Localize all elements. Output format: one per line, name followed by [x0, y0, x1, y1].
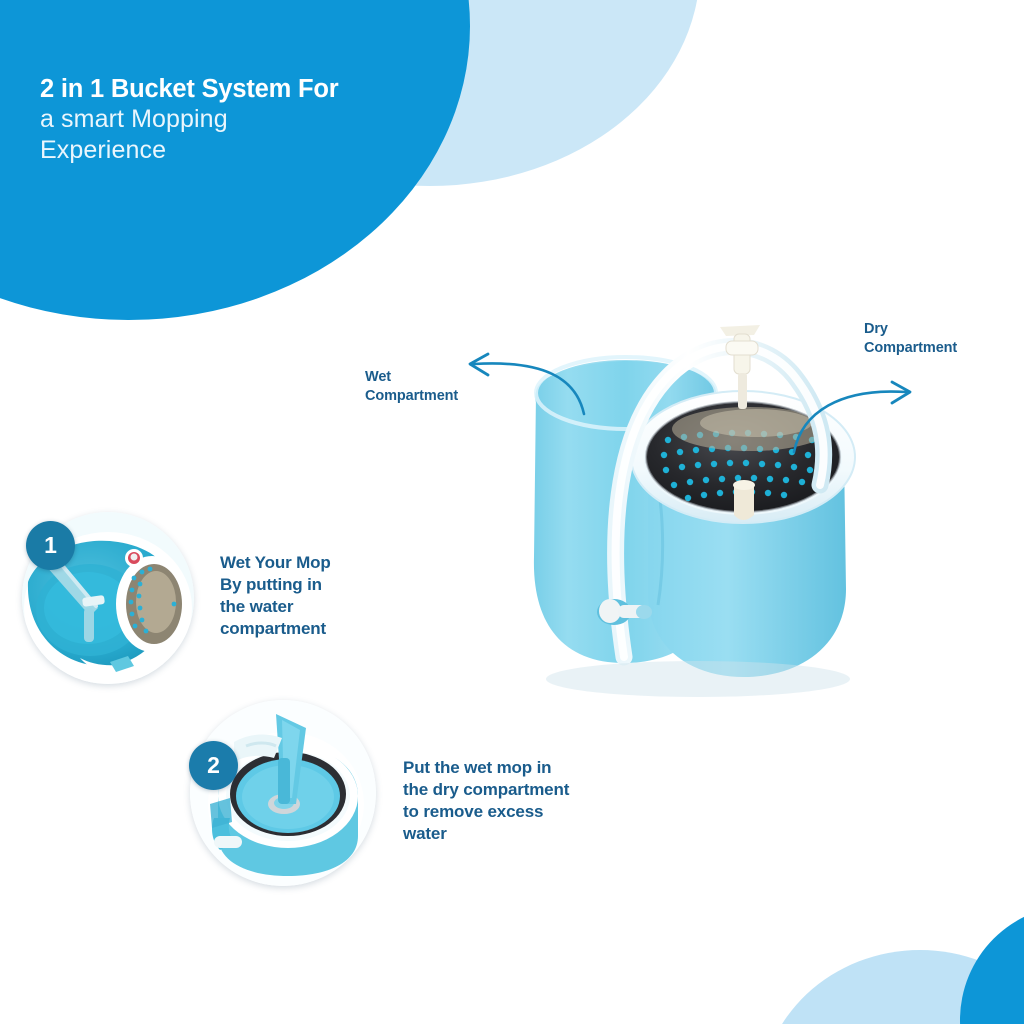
callout-dry-compartment: Dry Compartment	[864, 320, 957, 358]
step-1-text-line-4: compartment	[220, 618, 430, 640]
step-1-text-line-1: Wet Your Mop	[220, 552, 430, 574]
step-2-illustration	[190, 700, 376, 886]
step-2-text-line-2: the dry compartment	[403, 779, 643, 801]
step-1-text-line-2: By putting in	[220, 574, 430, 596]
callout-dry-line-1: Dry	[864, 320, 957, 339]
callout-wet-compartment: Wet Compartment	[365, 368, 458, 406]
step-2-text: Put the wet mop in the dry compartment t…	[403, 757, 643, 845]
page-subtitle-line-2: Experience	[40, 135, 470, 166]
curved-arrow-left-icon	[452, 352, 592, 422]
step-1-text-line-3: the water	[220, 596, 430, 618]
step-2-photo	[190, 700, 376, 886]
step-1-number-badge: 1	[26, 521, 75, 570]
curved-arrow-right-icon	[788, 378, 928, 458]
callout-dry-line-2: Compartment	[864, 339, 957, 358]
page-subtitle-line-1: a smart Mopping	[40, 104, 470, 135]
callout-wet-line-1: Wet	[365, 368, 458, 387]
callout-wet-line-2: Compartment	[365, 387, 458, 406]
header-title-block: 2 in 1 Bucket System For a smart Mopping…	[40, 74, 470, 165]
page-title: 2 in 1 Bucket System For	[40, 74, 470, 104]
step-2-text-line-3: to remove excess	[403, 801, 643, 823]
step-1-text: Wet Your Mop By putting in the water com…	[220, 552, 430, 640]
step-2-text-line-1: Put the wet mop in	[403, 757, 643, 779]
infographic-page: 2 in 1 Bucket System For a smart Mopping…	[0, 0, 1024, 1024]
step-2-number-badge: 2	[189, 741, 238, 790]
step-2-text-line-4: water	[403, 823, 643, 845]
